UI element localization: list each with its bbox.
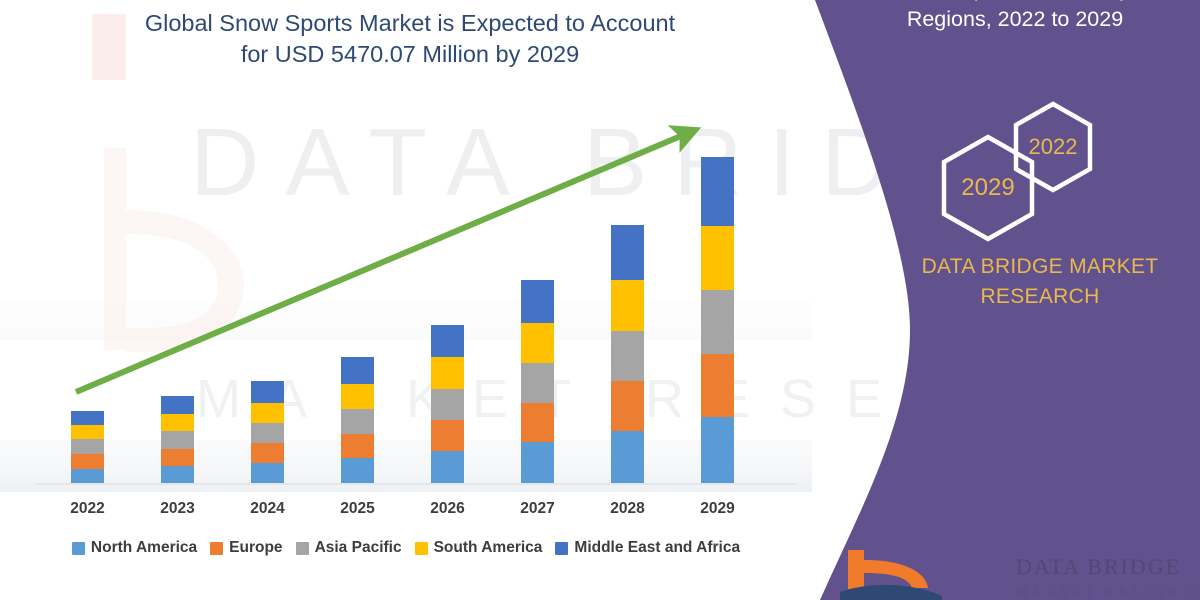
bar-segment-2023-middle-east-and-africa xyxy=(161,396,194,414)
legend-item-asia-pacific[interactable]: Asia Pacific xyxy=(296,539,402,557)
hexagon-badge-2029-label: 2029 xyxy=(961,174,1014,202)
bar-2023 xyxy=(161,396,194,483)
legend-item-europe[interactable]: Europe xyxy=(210,539,282,557)
footer-logo: DATA BRIDGE MARKET RESEARCH xyxy=(838,548,1198,600)
footer-logo-text: DATA BRIDGE MARKET RESEARCH xyxy=(1016,554,1198,600)
x-axis-label-2026: 2026 xyxy=(413,500,483,518)
bar-segment-2027-north-america xyxy=(521,442,554,483)
legend-item-middle-east-and-africa[interactable]: Middle East and Africa xyxy=(555,539,740,557)
bar-segment-2027-south-america xyxy=(521,323,554,363)
bar-segment-2028-north-america xyxy=(611,431,644,483)
x-axis-label-2023: 2023 xyxy=(143,500,213,518)
legend-label: North America xyxy=(91,539,197,557)
bar-segment-2022-north-america xyxy=(71,469,104,483)
bar-segment-2027-middle-east-and-africa xyxy=(521,280,554,323)
bar-segment-2027-europe xyxy=(521,403,554,442)
bar-2025 xyxy=(341,357,374,483)
panel-heading: Snow Sports Market, By Regions, 2022 to … xyxy=(850,0,1180,34)
bar-segment-2026-middle-east-and-africa xyxy=(431,325,464,357)
legend-item-south-america[interactable]: South America xyxy=(415,539,543,557)
bar-segment-2023-europe xyxy=(161,449,194,466)
bar-segment-2025-asia-pacific xyxy=(341,409,374,434)
bar-segment-2023-asia-pacific xyxy=(161,431,194,449)
bar-segment-2028-middle-east-and-africa xyxy=(611,225,644,280)
legend-swatch-icon xyxy=(72,542,85,555)
bar-segment-2029-south-america xyxy=(701,226,734,290)
x-axis-label-2027: 2027 xyxy=(503,500,573,518)
bar-segment-2026-europe xyxy=(431,420,464,451)
bar-segment-2024-south-america xyxy=(251,403,284,423)
legend-swatch-icon xyxy=(210,542,223,555)
x-axis-label-2022: 2022 xyxy=(53,500,123,518)
bar-segment-2029-asia-pacific xyxy=(701,290,734,354)
brand-name: DATA BRIDGE MARKET RESEARCH xyxy=(890,252,1190,312)
legend-item-north-america[interactable]: North America xyxy=(72,539,197,557)
brand-name-line-2: RESEARCH xyxy=(980,285,1099,308)
bar-segment-2025-south-america xyxy=(341,384,374,409)
bar-segment-2028-asia-pacific xyxy=(611,331,644,381)
bar-segment-2029-europe xyxy=(701,354,734,417)
panel-heading-line-2: Regions, 2022 to 2029 xyxy=(907,7,1123,31)
bar-segment-2026-asia-pacific xyxy=(431,389,464,420)
bar-2029 xyxy=(701,157,734,483)
bar-segment-2026-south-america xyxy=(431,357,464,389)
hexagon-badge-2022: 2022 xyxy=(1010,100,1096,194)
legend-swatch-icon xyxy=(296,542,309,555)
chart-baseline-axis xyxy=(36,483,796,485)
legend-swatch-icon xyxy=(415,542,428,555)
hexagon-badge-2022-label: 2022 xyxy=(1029,134,1078,160)
bar-segment-2022-asia-pacific xyxy=(71,439,104,454)
x-axis-label-2025: 2025 xyxy=(323,500,393,518)
bar-segment-2024-middle-east-and-africa xyxy=(251,381,284,403)
bar-segment-2028-europe xyxy=(611,381,644,431)
bar-segment-2028-south-america xyxy=(611,280,644,331)
bar-segment-2029-middle-east-and-africa xyxy=(701,157,734,226)
bar-segment-2024-europe xyxy=(251,443,284,463)
bar-segment-2023-south-america xyxy=(161,414,194,431)
footer-logo-mark xyxy=(838,548,998,600)
bar-2027 xyxy=(521,280,554,483)
brand-name-line-1: DATA BRIDGE MARKET xyxy=(922,255,1159,278)
bar-segment-2024-asia-pacific xyxy=(251,423,284,443)
bar-segment-2024-north-america xyxy=(251,463,284,483)
bar-segment-2022-middle-east-and-africa xyxy=(71,411,104,425)
bar-2028 xyxy=(611,225,644,483)
legend-label: Middle East and Africa xyxy=(574,539,740,557)
bar-segment-2025-north-america xyxy=(341,458,374,483)
bar-segment-2025-europe xyxy=(341,434,374,458)
infographic-canvas: DATA BRIDGE MARKET RESEARCH Global Snow … xyxy=(0,0,1200,600)
bar-segment-2022-south-america xyxy=(71,425,104,439)
footer-logo-name: DATA BRIDGE xyxy=(1016,554,1181,579)
legend-label: Asia Pacific xyxy=(315,539,402,557)
bar-segment-2027-asia-pacific xyxy=(521,363,554,403)
legend-swatch-icon xyxy=(555,542,568,555)
x-axis-label-2028: 2028 xyxy=(593,500,663,518)
x-axis-label-2024: 2024 xyxy=(233,500,303,518)
stacked-bar-chart: 20222023202420252026202720282029 xyxy=(0,0,812,600)
legend-label: Europe xyxy=(229,539,282,557)
bar-2022 xyxy=(71,411,104,483)
bar-segment-2023-north-america xyxy=(161,466,194,483)
bar-2024 xyxy=(251,381,284,483)
panel-heading-line-1: Snow Sports Market, By xyxy=(900,0,1131,1)
bar-segment-2022-europe xyxy=(71,454,104,469)
legend-label: South America xyxy=(434,539,543,557)
bar-segment-2025-middle-east-and-africa xyxy=(341,357,374,384)
chart-legend: North AmericaEuropeAsia PacificSouth Ame… xyxy=(0,539,812,557)
bar-2026 xyxy=(431,325,464,483)
bar-segment-2029-north-america xyxy=(701,417,734,483)
bar-segment-2026-north-america xyxy=(431,451,464,483)
footer-logo-tagline: MARKET RESEARCH xyxy=(1016,579,1198,600)
x-axis-label-2029: 2029 xyxy=(683,500,753,518)
